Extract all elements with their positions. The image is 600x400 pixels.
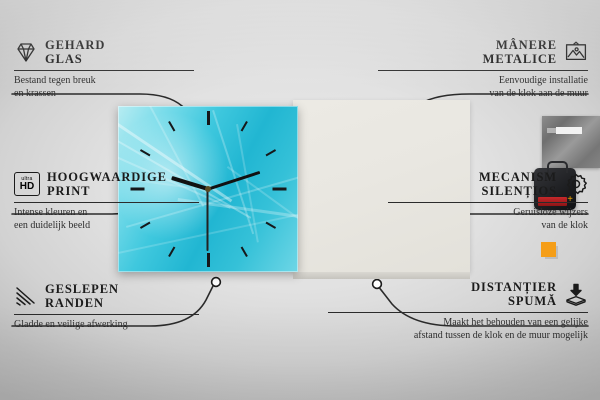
- callout-subtitle: Maakt het behouden van een gelijke afsta…: [328, 317, 588, 342]
- diamond-icon: [14, 40, 38, 64]
- callout-geslepen-randen: GESLEPEN RANDEN Gladde en veilige afwerk…: [14, 282, 199, 332]
- callout-subtitle: Gladde en veilige afwerking: [14, 319, 199, 332]
- divider: [388, 202, 588, 203]
- callout-title: GEHARD GLAS: [45, 38, 105, 66]
- gear-icon: [564, 172, 588, 196]
- callout-title: HOOGWAARDIGE PRINT: [47, 170, 167, 198]
- callout-gehard-glas: GEHARD GLAS Bestand tegen breuk en krass…: [14, 38, 194, 100]
- divider: [14, 202, 199, 203]
- divider: [14, 314, 199, 315]
- divider: [378, 70, 588, 71]
- ultra-hd-icon: ultra HD: [14, 172, 40, 196]
- divider: [328, 312, 588, 313]
- callout-subtitle: Intense kleuren en een duidelijk beeld: [14, 207, 199, 232]
- callout-title: MECANISM SILENȚIOS: [479, 170, 557, 198]
- callout-mecanism-silentios: MECANISM SILENȚIOS Geruisloze wijzers va…: [388, 170, 588, 232]
- foam-spacer: [541, 242, 556, 257]
- hand-pin: [205, 186, 211, 192]
- divider: [14, 70, 194, 71]
- callout-title: DISTANȚIER SPUMĂ: [471, 280, 557, 308]
- callout-subtitle: Bestand tegen breuk en krassen: [14, 75, 194, 100]
- picture-frame-icon: [564, 40, 588, 64]
- arrow-down-onto-pad-icon: [564, 282, 588, 306]
- callout-subtitle: Eenvoudige installatie van de klok aan d…: [378, 75, 588, 100]
- callout-distantier-spuma: DISTANȚIER SPUMĂ Maakt het behouden van …: [328, 280, 588, 342]
- hanger-slot: [556, 127, 582, 134]
- callout-subtitle: Geruisloze wijzers van de klok: [388, 207, 588, 232]
- ultra-hd-icon-bottom: HD: [20, 182, 34, 192]
- callout-hoogwaardige-print: ultra HD HOOGWAARDIGE PRINT Intense kleu…: [14, 170, 199, 232]
- callout-manere-metalice: MÂNERE METALICE Eenvoudige installatie v…: [378, 38, 588, 100]
- diagonal-lines-icon: [14, 284, 38, 308]
- infographic-canvas: GEHARD GLAS Bestand tegen breuk en krass…: [0, 0, 600, 400]
- callout-title: GESLEPEN RANDEN: [45, 282, 119, 310]
- callout-title: MÂNERE METALICE: [483, 38, 557, 66]
